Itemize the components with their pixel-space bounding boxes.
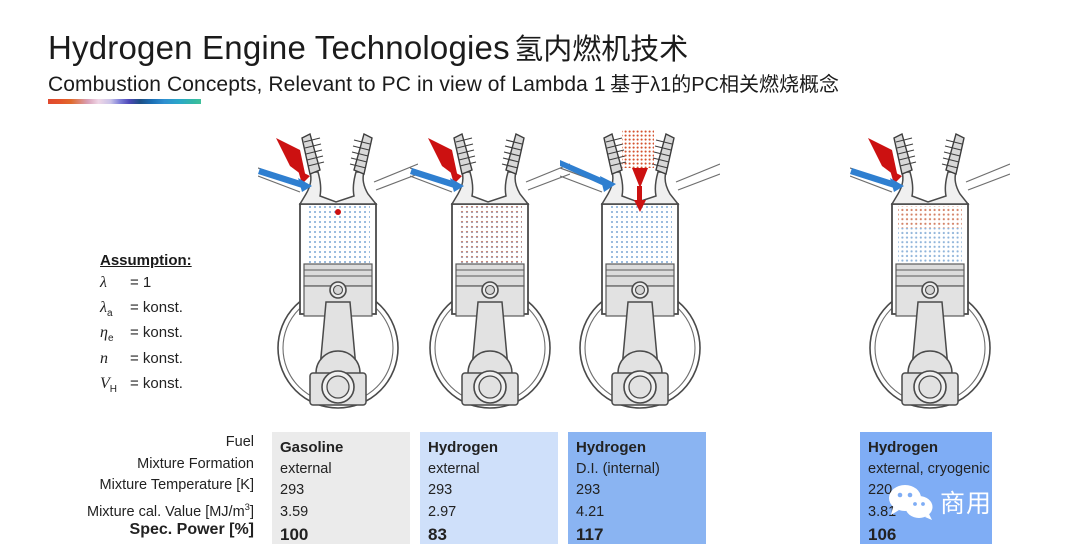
page-subtitle-main: Combustion Concepts, Relevant to PC in v… (48, 73, 606, 96)
direct-injection-block (622, 130, 654, 168)
cell-fuel: Hydrogen (576, 437, 706, 459)
cell-mixture-temperature: 293 (280, 480, 410, 502)
row-label-spec-power: Spec. Power [%] (0, 518, 262, 541)
valve-left (302, 134, 324, 174)
assumption-symbol: ηe (100, 323, 130, 348)
table-column-hydrogen-cryogenic: Hydrogen external, cryogenic 220 3.81 10… (860, 432, 992, 544)
cell-mixture-formation: external, cryogenic (868, 459, 992, 481)
charge-fill-cold (898, 228, 962, 264)
engine-diagram-hydrogen-external (410, 130, 570, 430)
page-title-main: Hydrogen Engine Technologies (48, 29, 510, 66)
assumption-row: λ= 1 (100, 273, 192, 298)
cell-mixture-formation: D.I. (internal) (576, 459, 706, 481)
charge-fill (608, 206, 672, 264)
cell-spec-power: 106 (868, 523, 992, 545)
table-row-labels: Fuel Mixture Formation Mixture Temperatu… (0, 432, 262, 541)
charge-fill-warm (898, 206, 962, 228)
cell-mixture-formation: external (280, 459, 410, 481)
assumption-row: λa= konst. (100, 298, 192, 323)
cell-mixture-formation: external (428, 459, 558, 481)
cell-mixture-temperature: 293 (576, 480, 706, 502)
assumption-symbol: VH (100, 374, 130, 399)
cell-fuel: Hydrogen (428, 437, 558, 459)
accent-gradient-bar (48, 99, 201, 104)
row-label-fuel: Fuel (0, 432, 262, 454)
table-column-gasoline: Gasoline external 293 3.59 100 (272, 432, 410, 544)
valve-left (894, 134, 916, 174)
cell-spec-power: 83 (428, 523, 558, 545)
cell-spec-power: 100 (280, 523, 410, 545)
cylinder-block (892, 204, 968, 316)
spark-point (335, 209, 341, 215)
assumption-symbol: λ (100, 273, 130, 298)
valve-right (502, 134, 524, 174)
cell-mixture-temperature: 293 (428, 480, 558, 502)
cylinder-head (300, 172, 376, 204)
cell-mixture-cal-value: 4.21 (576, 502, 706, 524)
assumption-value: = 1 (130, 273, 151, 292)
cell-fuel: Hydrogen (868, 437, 992, 459)
assumption-value: = konst. (130, 298, 183, 317)
engine-diagram-hydrogen-di (560, 130, 720, 430)
page-subtitle: Combustion Concepts, Relevant to PC in v… (48, 68, 839, 97)
charge-fill (458, 206, 522, 264)
valve-right (350, 134, 372, 174)
assumption-row: n= konst. (100, 349, 192, 374)
cell-mixture-temperature: 220 (868, 480, 992, 502)
assumption-title: Assumption: (100, 252, 192, 269)
cylinder-block (452, 204, 528, 316)
table-column-hydrogen-di: Hydrogen D.I. (internal) 293 4.21 117 (568, 432, 706, 544)
cylinder-head (452, 172, 528, 204)
page-title-cn: 氢内燃机技术 (514, 34, 688, 66)
assumption-row: ηe= konst. (100, 323, 192, 348)
row-label-mixture-formation: Mixture Formation (0, 454, 262, 476)
engine-diagram-hydrogen-cryogenic (850, 130, 1010, 430)
assumption-value: = konst. (130, 349, 183, 368)
row-label-mixture-cal-value: Mixture cal. Value [MJ/m3] (0, 497, 262, 519)
assumption-value: = konst. (130, 323, 183, 342)
row-label-mixture-temperature: Mixture Temperature [K] (0, 475, 262, 497)
cylinder-block (602, 204, 678, 316)
assumption-symbol: n (100, 349, 130, 374)
assumption-row: VH= konst. (100, 374, 192, 399)
page-title: Hydrogen Engine Technologies 氢内燃机技术 (48, 26, 688, 68)
assumption-block: Assumption: λ= 1 λa= konst. ηe= konst. n… (100, 252, 192, 399)
cell-spec-power: 117 (576, 523, 706, 545)
comparison-table: Fuel Mixture Formation Mixture Temperatu… (0, 432, 1080, 550)
engine-diagram-gasoline (258, 130, 418, 430)
cylinder-block (300, 204, 376, 316)
cell-fuel: Gasoline (280, 437, 410, 459)
cylinder-head (892, 172, 968, 204)
cell-mixture-cal-value: 2.97 (428, 502, 558, 524)
table-column-hydrogen-external: Hydrogen external 293 2.97 83 (420, 432, 558, 544)
assumption-value: = konst. (130, 374, 183, 393)
page-subtitle-cn: 基于λ1的PC相关燃烧概念 (610, 74, 839, 96)
cell-mixture-cal-value: 3.59 (280, 502, 410, 524)
cell-mixture-cal-value: 3.81 (868, 502, 992, 524)
valve-right (652, 134, 674, 174)
valve-right (942, 134, 964, 174)
valve-left (454, 134, 476, 174)
assumption-symbol: λa (100, 298, 130, 323)
